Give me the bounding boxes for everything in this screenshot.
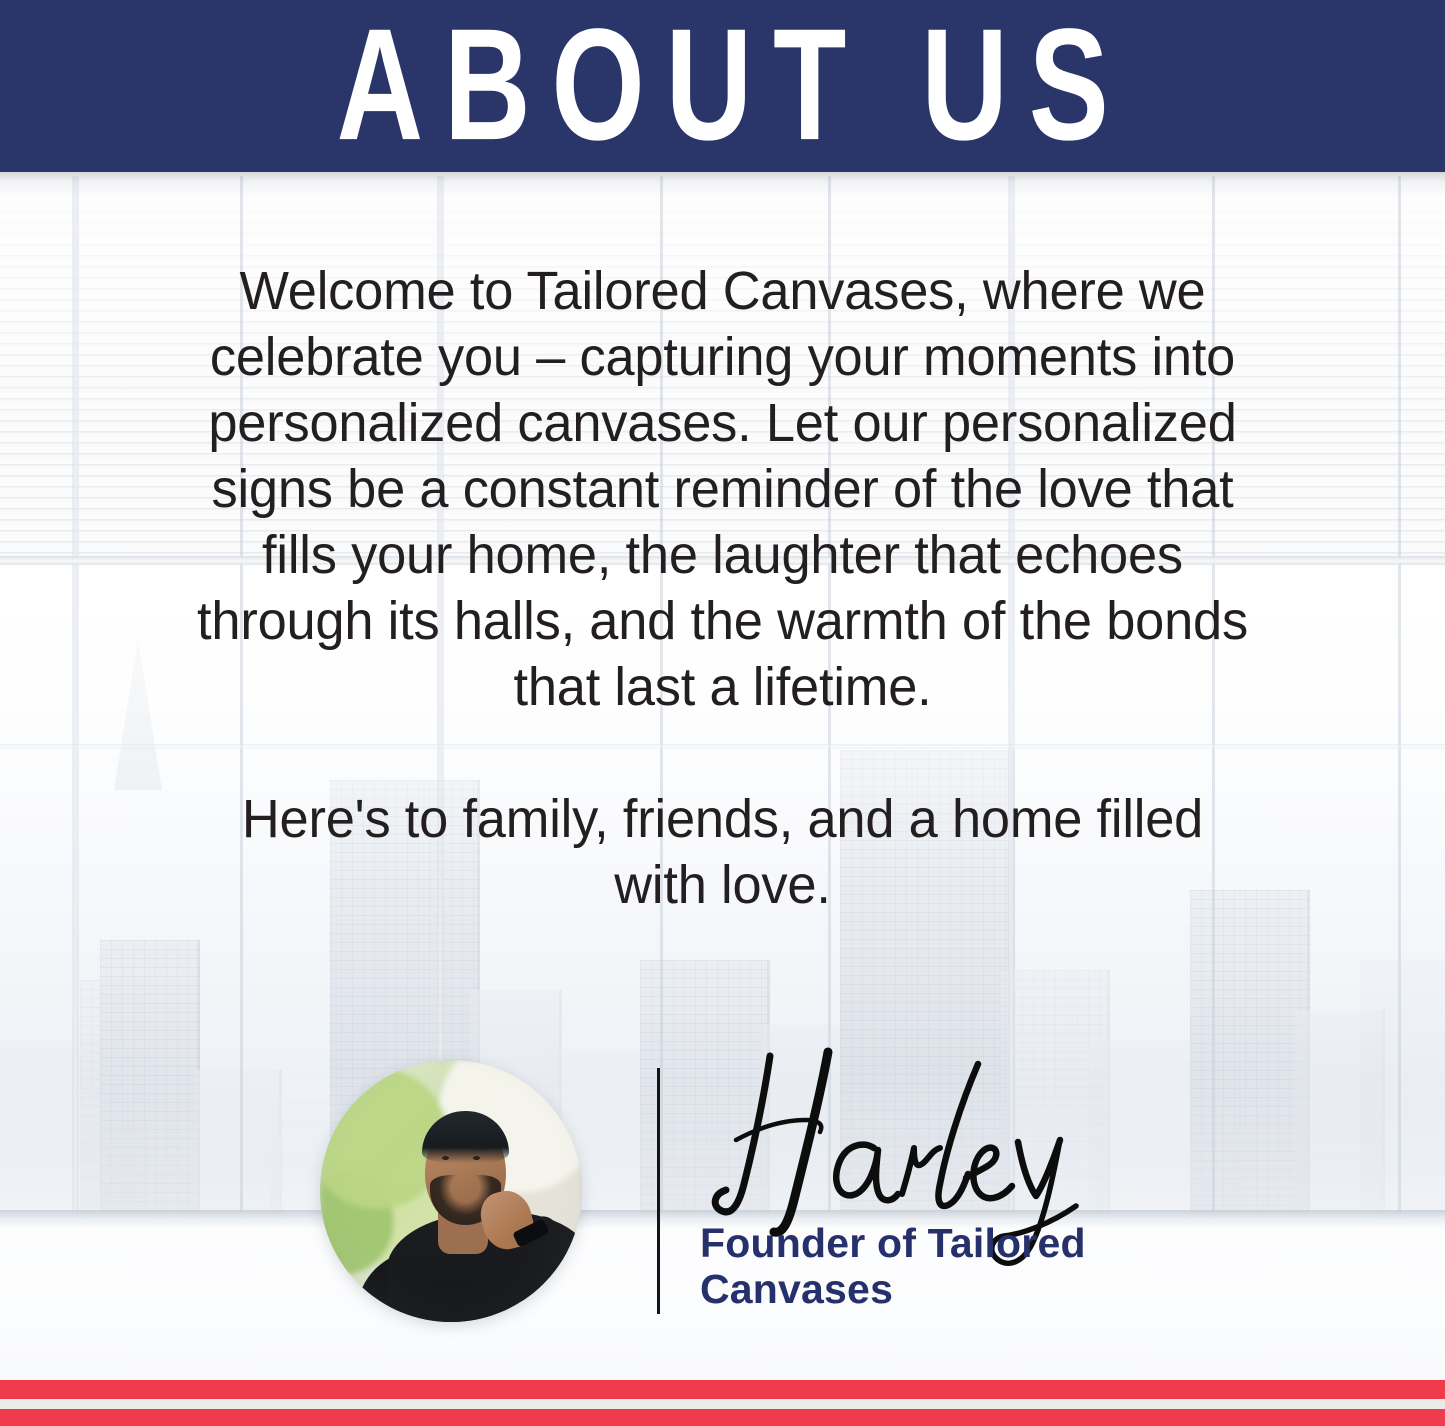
- founder-role: Founder of Tailored Canvases: [700, 1220, 1180, 1312]
- signature-divider: [657, 1068, 660, 1314]
- paragraph-spacer: [196, 720, 1248, 786]
- founder-portrait-photo: [320, 1060, 582, 1322]
- footer-stripe-gap: [0, 1399, 1445, 1409]
- page-title: ABOUT US: [316, 5, 1130, 164]
- avatar: [320, 1060, 582, 1322]
- about-paragraph-2: Here's to family, friends, and a home fi…: [196, 786, 1248, 918]
- footer-stripe-top: [0, 1380, 1445, 1399]
- founder-signature-block: Founder of Tailored Canvases: [320, 1050, 1220, 1340]
- about-us-poster: ABOUT US Welcome to Tailored Canvases, w…: [0, 0, 1445, 1426]
- window-mullion: [1398, 176, 1401, 1220]
- portrait-vignette: [320, 1060, 582, 1322]
- header-bar: ABOUT US: [0, 0, 1445, 172]
- founder-role-line-1: Founder of Tailored: [700, 1220, 1180, 1266]
- footer-stripe-bottom: [0, 1409, 1445, 1426]
- about-copy: Welcome to Tailored Canvases, where we c…: [196, 258, 1248, 918]
- header-drop-shadow: [0, 172, 1445, 198]
- founder-role-line-2: Canvases: [700, 1266, 1180, 1312]
- window-mullion: [72, 176, 79, 1220]
- about-paragraph-1: Welcome to Tailored Canvases, where we c…: [196, 258, 1248, 720]
